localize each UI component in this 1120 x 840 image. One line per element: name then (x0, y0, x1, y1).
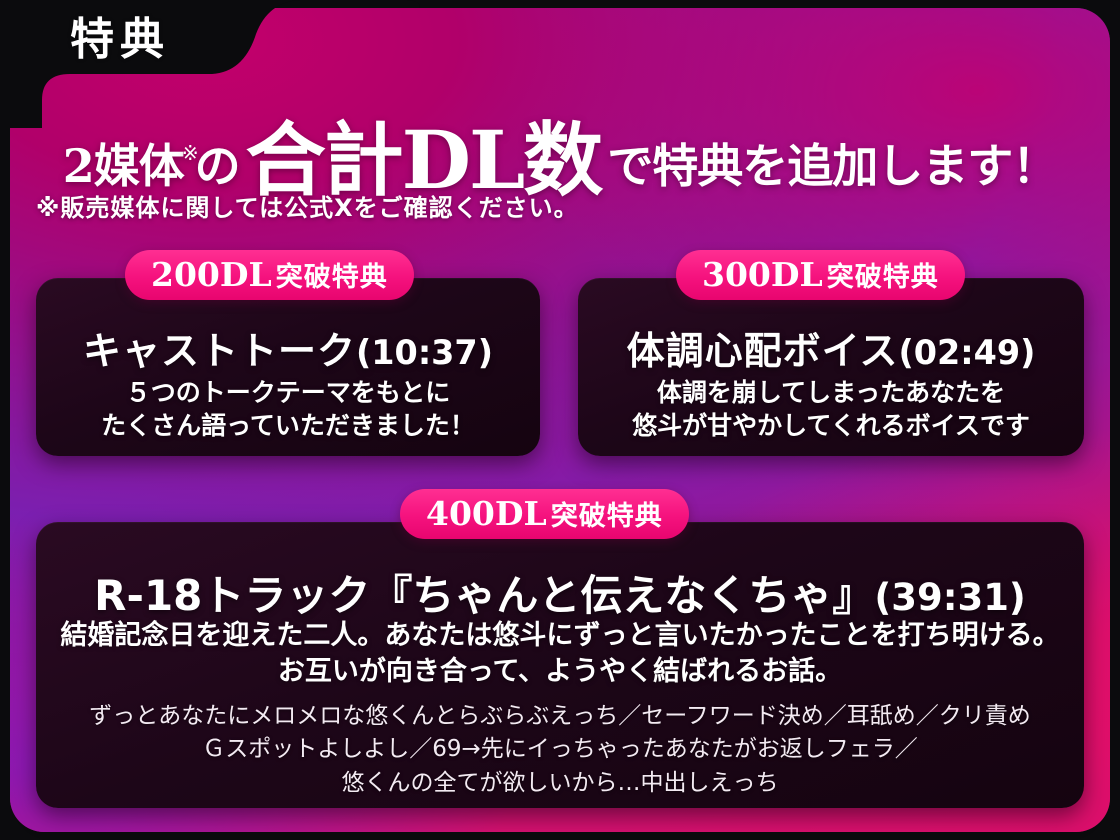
badge-suffix: 突破特典 (551, 501, 663, 532)
card-tag-line: ずっとあなたにメロメロな悠くんとらぶらぶえっち／セーフワード決め／耳舐め／クリ責… (36, 700, 1084, 733)
card-desc-line: お互いが向き合って、ようやく結ばれるお話。 (36, 654, 1084, 690)
card-title-text: キャストトーク (83, 329, 356, 373)
badge-number: 300DL (702, 255, 823, 294)
badge-number: 200DL (151, 255, 272, 294)
card-duration: (02:49) (898, 333, 1035, 372)
headline-lead: 2媒体 (63, 139, 184, 193)
card-title-text: R-18トラック『ちゃんと伝えなくちゃ』 (94, 571, 874, 620)
benefit-card-400dl: R-18トラック『ちゃんと伝えなくちゃ』(39:31) 結婚記念日を迎えた二人。… (36, 522, 1084, 808)
card-tag-line: Ｇスポットよしよし／69→先にイっちゃったあなたがお返しフェラ／ (36, 733, 1084, 766)
headline-note: ※販売媒体に関しては公式Xをご確認ください。 (36, 188, 579, 223)
card-tag-list: ずっとあなたにメロメロな悠くんとらぶらぶえっち／セーフワード決め／耳舐め／クリ責… (36, 700, 1084, 800)
benefit-card-200dl: キャストトーク(10:37) ５つのトークテーマをもとに たくさん語っていただき… (36, 278, 540, 456)
benefit-card-300dl: 体調心配ボイス(02:49) 体調を崩してしまったあなたを 悠斗が甘やかしてくれ… (578, 278, 1084, 456)
card-desc-line: 体調を崩してしまったあなたを (578, 376, 1084, 409)
card-description: ５つのトークテーマをもとに たくさん語っていただきました！ (36, 376, 540, 442)
card-duration: (10:37) (356, 333, 493, 372)
card-desc-line: ５つのトークテーマをもとに (36, 376, 540, 409)
card-duration: (39:31) (874, 576, 1025, 619)
badge-suffix: 突破特典 (827, 262, 939, 293)
badge-400dl: 400DL突破特典 (400, 489, 689, 539)
badge-300dl: 300DL突破特典 (676, 250, 965, 300)
card-title: キャストトーク(10:37) (36, 320, 540, 375)
tab-label: 特典 (70, 8, 270, 72)
card-title: 体調心配ボイス(02:49) (578, 320, 1084, 375)
badge-suffix: 突破特典 (276, 262, 388, 293)
badge-number: 400DL (426, 494, 547, 533)
card-desc-line: たくさん語っていただきました！ (36, 409, 540, 442)
card-description: 体調を崩してしまったあなたを 悠斗が甘やかしてくれるボイスです (578, 376, 1084, 442)
card-desc-line: 悠斗が甘やかしてくれるボイスです (578, 409, 1084, 442)
card-title-text: 体調心配ボイス (627, 329, 899, 373)
headline-tail: で特典を追加します！ (607, 139, 1057, 193)
badge-200dl: 200DL突破特典 (125, 250, 414, 300)
benefit-poster: 特典 2媒体※の合計DL数で特典を追加します！ ※販売媒体に関しては公式Xをご確… (0, 0, 1120, 840)
card-tag-line: 悠くんの全てが欲しいから…中出しえっち (36, 767, 1084, 800)
card-desc-line: 結婚記念日を迎えた二人。あなたは悠斗にずっと言いたかったことを打ち明ける。 (36, 618, 1084, 654)
headline-lead-tail: の (195, 139, 240, 193)
card-description: 結婚記念日を迎えた二人。あなたは悠斗にずっと言いたかったことを打ち明ける。 お互… (36, 618, 1084, 689)
card-title: R-18トラック『ちゃんと伝えなくちゃ』(39:31) (36, 562, 1084, 623)
